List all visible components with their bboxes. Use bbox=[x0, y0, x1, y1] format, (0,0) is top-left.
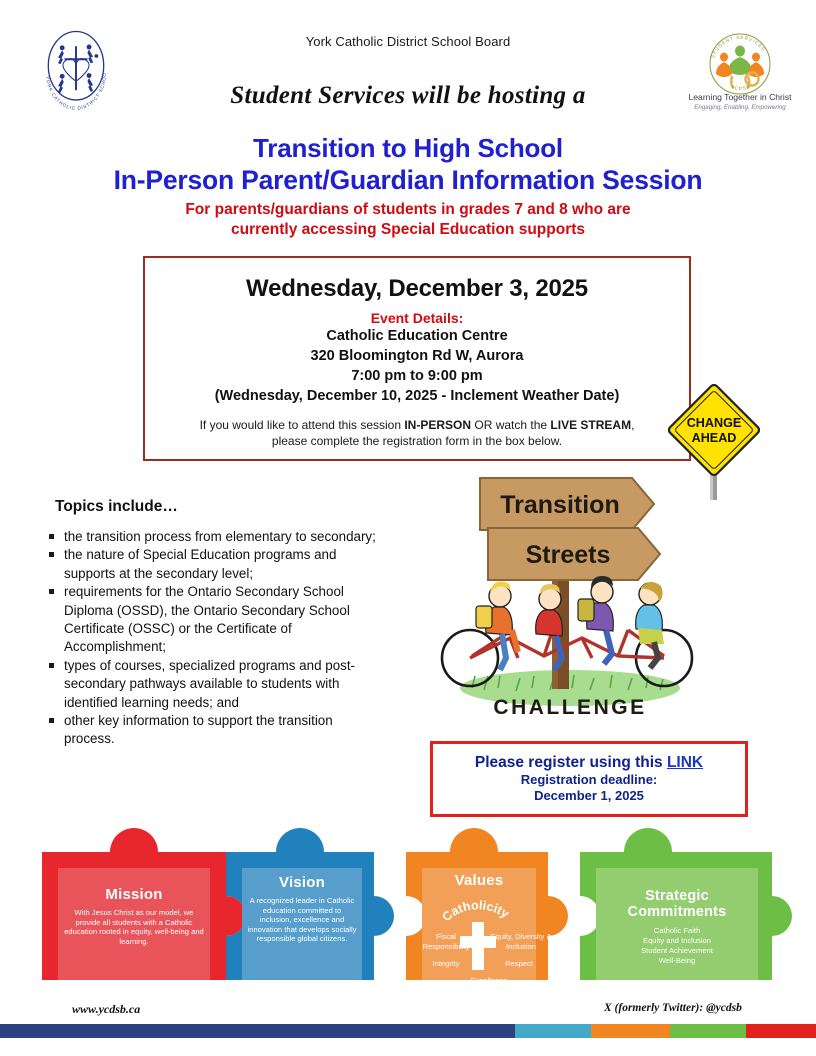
list-item: the nature of Special Education programs… bbox=[36, 546, 386, 583]
registration-link[interactable]: LINK bbox=[667, 754, 703, 771]
color-bar-segment-orange bbox=[591, 1024, 670, 1038]
event-note: If you would like to attend this session… bbox=[145, 417, 689, 449]
topics-list: the transition process from elementary t… bbox=[36, 528, 386, 749]
footer-color-bar bbox=[0, 1024, 816, 1038]
deadline-date: December 1, 2025 bbox=[534, 788, 644, 803]
registration-box[interactable]: Please register using this LINK Registra… bbox=[430, 741, 748, 817]
note-mid: OR watch the bbox=[471, 418, 550, 432]
signpost-text-bottom: Streets bbox=[526, 541, 611, 569]
tagline-sub: Engaging, Enabling, Empowering bbox=[676, 103, 804, 113]
student-services-tagline: Learning Together in Christ Engaging, En… bbox=[676, 92, 804, 113]
event-details-label: Event Details: bbox=[145, 310, 689, 326]
event-time: 7:00 pm to 9:00 pm bbox=[145, 366, 689, 386]
list-item: types of courses, specialized programs a… bbox=[36, 657, 386, 712]
footer-social-handle[interactable]: X (formerly Twitter): @ycdsb bbox=[604, 1002, 742, 1014]
page-title-line1: Transition to High School bbox=[0, 133, 816, 164]
signpost-caption: CHALLENGE bbox=[493, 696, 646, 719]
svg-text:YCDSB: YCDSB bbox=[730, 84, 751, 91]
page-subtitle: For parents/guardians of students in gra… bbox=[0, 200, 816, 240]
register-line: Please register using this LINK bbox=[475, 754, 703, 772]
color-bar-segment-navy bbox=[0, 1024, 515, 1038]
signpost-text-top: Transition bbox=[500, 491, 619, 519]
color-bar-segment-green bbox=[670, 1024, 746, 1038]
subtitle-line2: currently accessing Special Education su… bbox=[0, 220, 816, 240]
footer-website[interactable]: www.ycdsb.ca bbox=[72, 1002, 140, 1017]
color-bar-segment-cyan bbox=[515, 1024, 591, 1038]
list-item: the transition process from elementary t… bbox=[36, 528, 386, 546]
puzzle-piece-strategic bbox=[580, 828, 792, 980]
event-details-box: Wednesday, December 3, 2025 Event Detail… bbox=[143, 256, 691, 461]
transition-streets-signpost-icon: Transition Streets bbox=[432, 466, 702, 721]
puzzle-piece-values bbox=[406, 828, 568, 980]
list-item: requirements for the Ontario Secondary S… bbox=[36, 583, 386, 657]
topics-heading: Topics include… bbox=[55, 498, 178, 516]
note-in-person: IN-PERSON bbox=[404, 418, 471, 432]
note-post: , bbox=[631, 418, 634, 432]
road-sign-line2: AHEAD bbox=[692, 431, 737, 445]
page-title-line2: In-Person Parent/Guardian Information Se… bbox=[0, 165, 816, 196]
puzzle-footer: Catholicity Mission With Jesus Christ as… bbox=[0, 826, 816, 1006]
note-pre: If you would like to attend this session bbox=[200, 418, 405, 432]
event-address: 320 Bloomington Rd W, Aurora bbox=[145, 346, 689, 366]
note-live-stream: LIVE STREAM bbox=[550, 418, 631, 432]
puzzle-piece-mission bbox=[42, 828, 246, 980]
event-venue: Catholic Education Centre bbox=[145, 326, 689, 346]
road-sign-line1: CHANGE bbox=[687, 416, 742, 430]
tagline-main: Learning Together in Christ bbox=[688, 92, 791, 102]
event-alt-date: (Wednesday, December 10, 2025 - Inclemen… bbox=[145, 386, 689, 406]
color-bar-segment-red bbox=[746, 1024, 816, 1038]
event-date: Wednesday, December 3, 2025 bbox=[145, 275, 689, 303]
registration-deadline: Registration deadline: December 1, 2025 bbox=[521, 772, 658, 804]
note-line2: please complete the registration form in… bbox=[171, 433, 663, 449]
puzzle-piece-vision bbox=[226, 828, 394, 980]
register-prefix: Please register using this bbox=[475, 754, 667, 771]
flyer-page: YORK CATHOLIC DISTRICT SCHOOL BOARD York… bbox=[0, 0, 816, 1056]
list-item: other key information to support the tra… bbox=[36, 712, 386, 749]
subtitle-line1: For parents/guardians of students in gra… bbox=[0, 200, 816, 220]
deadline-label: Registration deadline: bbox=[521, 772, 658, 787]
